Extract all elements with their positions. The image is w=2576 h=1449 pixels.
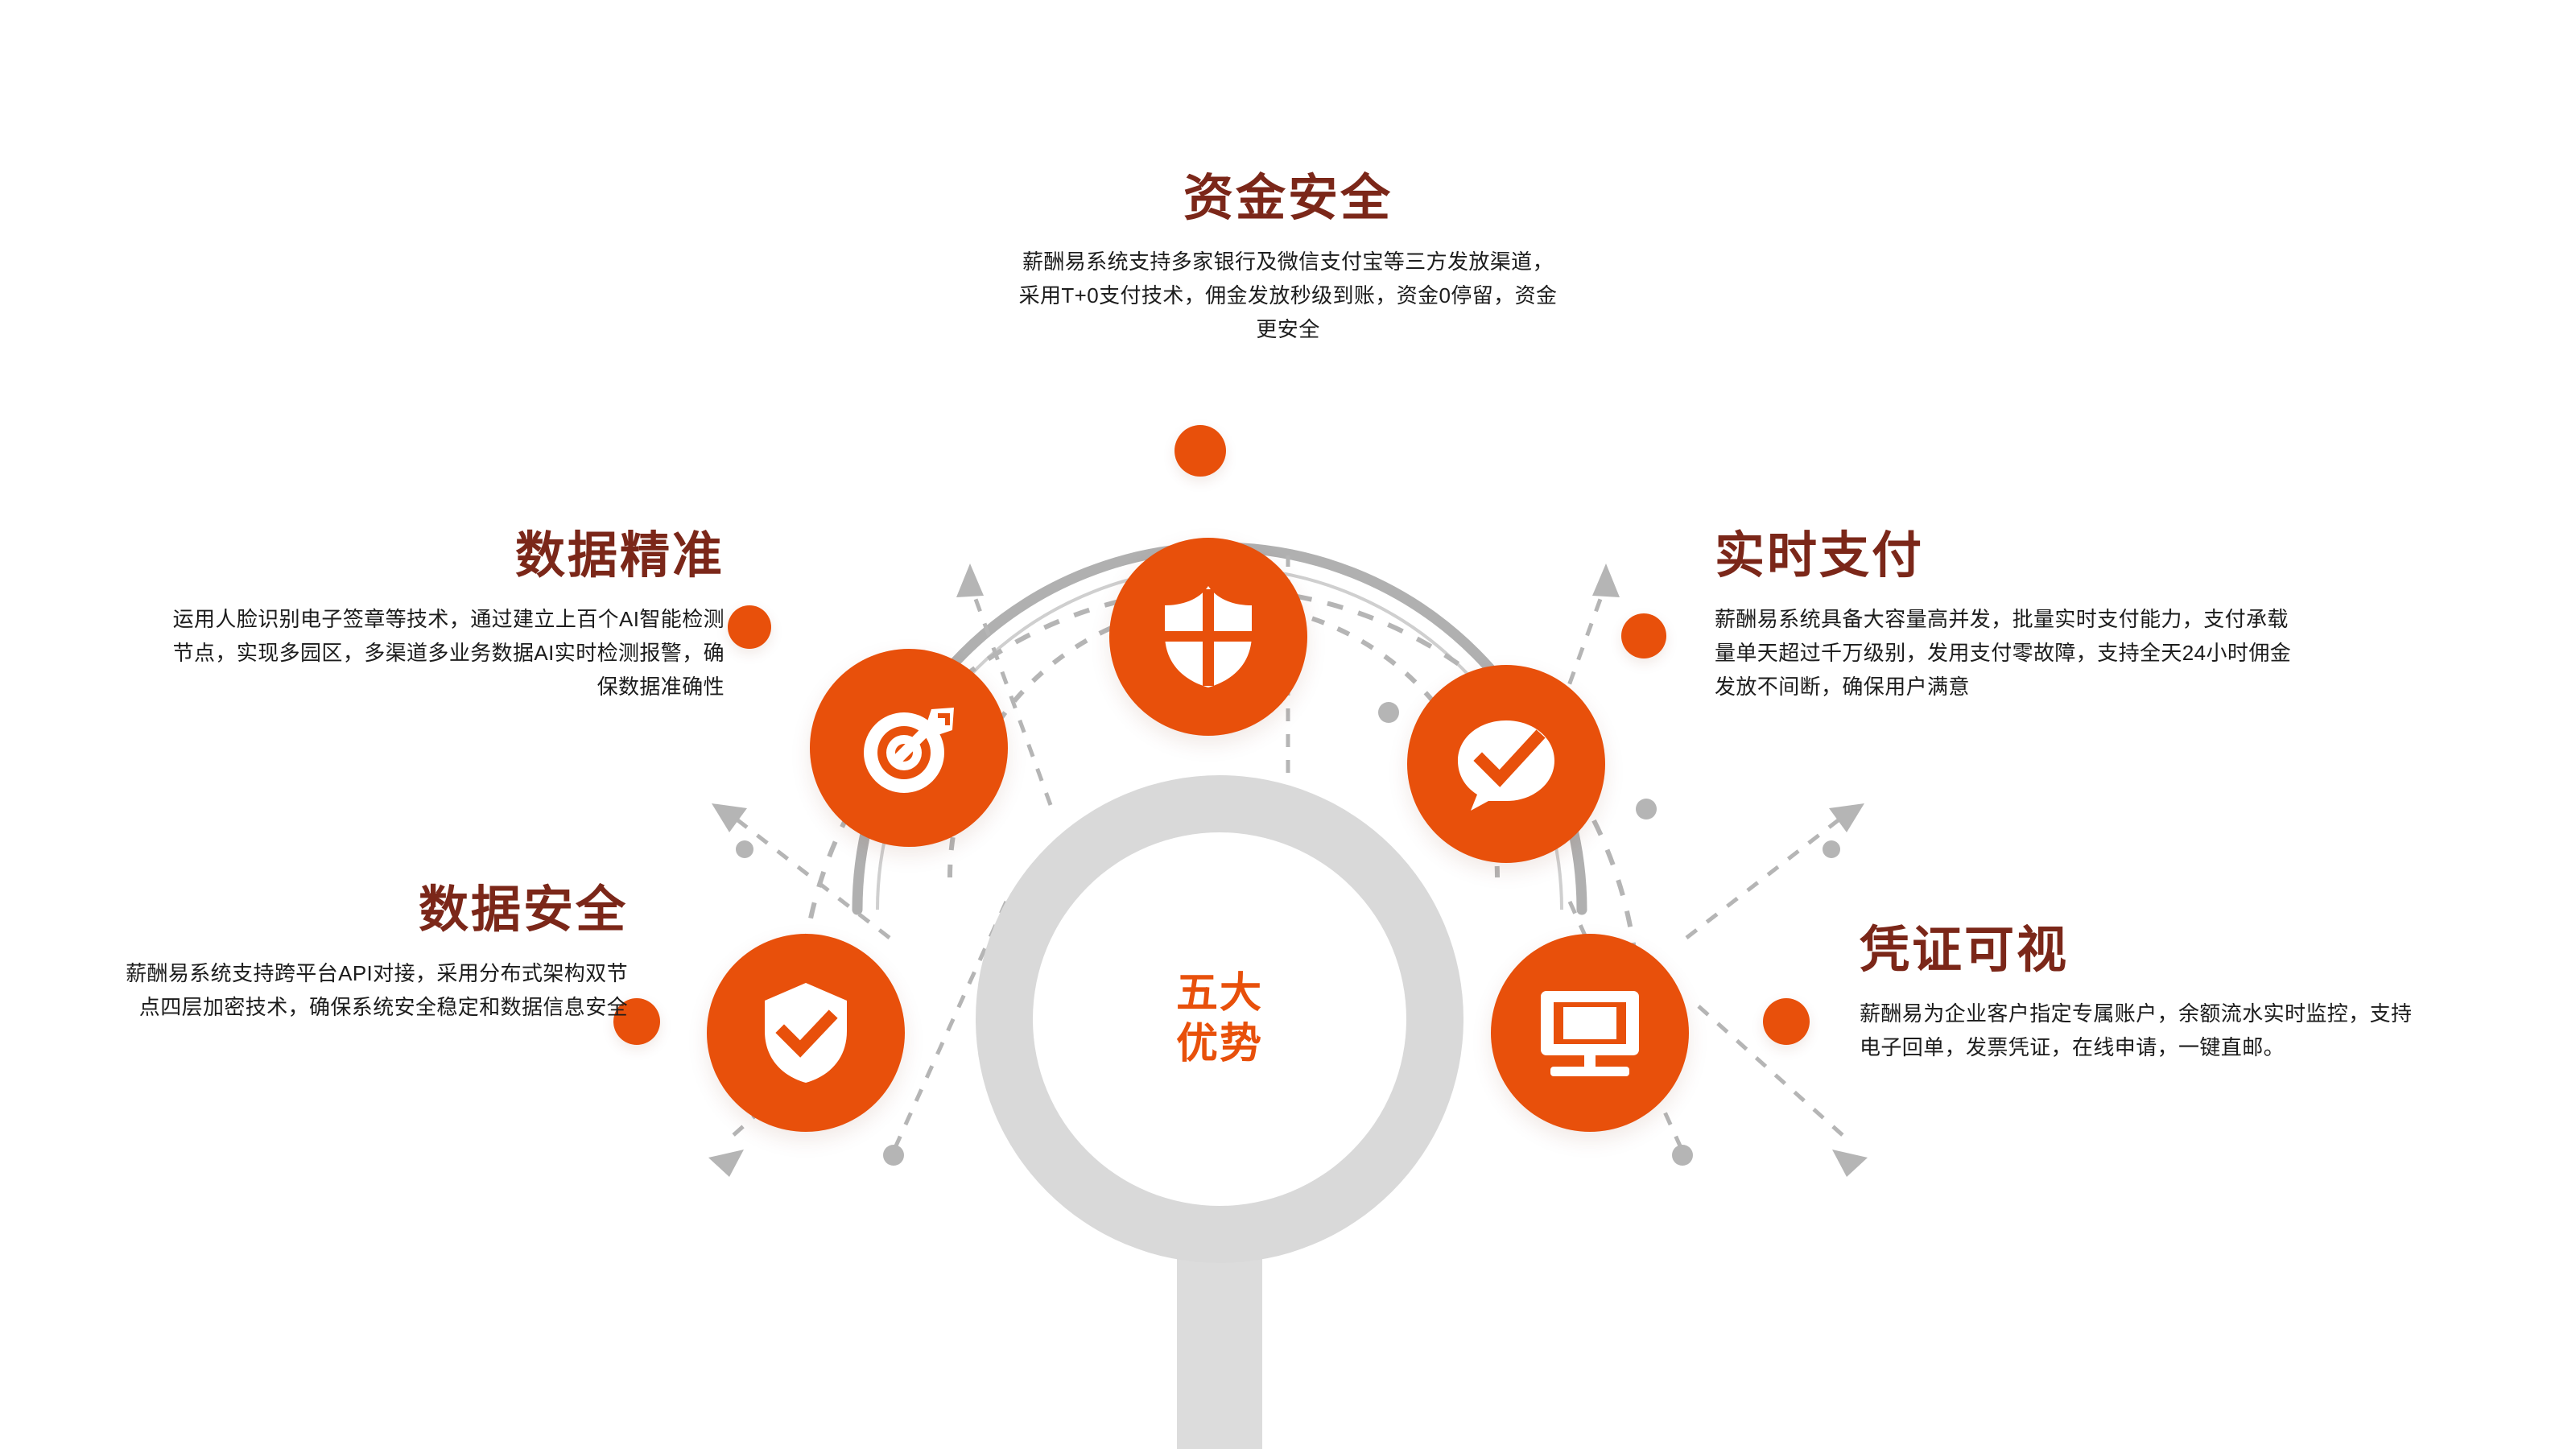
accent-dot-voucher-visible (1763, 998, 1810, 1045)
feature-title-data-accuracy: 数据精准 (113, 531, 724, 581)
bubble-voucher-visible[interactable] (1491, 934, 1689, 1132)
feature-data-accuracy: 数据精准 运用人脸识别电子签章等技术，通过建立上百个AI智能检测节点，实现多园区… (113, 531, 724, 704)
bubble-data-security[interactable] (707, 934, 905, 1132)
feature-title-fund-security: 资金安全 (885, 174, 1690, 224)
feature-body-data-accuracy: 运用人脸识别电子签章等技术，通过建立上百个AI智能检测节点，实现多园区，多渠道多… (161, 602, 724, 704)
accent-dot-fund-security (1174, 425, 1226, 477)
target-dart-icon (857, 696, 960, 799)
shield-cross-icon (1158, 584, 1258, 689)
feature-voucher-visible: 凭证可视 薪酬易为企业客户指定专属账户，余额流水实时监控，支持电子回单，发票凭证… (1860, 926, 2471, 1064)
monitor-icon (1538, 988, 1642, 1078)
bubble-realtime-payment[interactable] (1407, 665, 1605, 863)
accent-dot-data-accuracy (728, 605, 771, 649)
shield-check-icon (760, 981, 852, 1084)
feature-title-realtime-payment: 实时支付 (1715, 531, 2359, 581)
chat-check-icon (1453, 714, 1559, 814)
feature-data-security: 数据安全 薪酬易系统支持跨平台API对接，采用分布式架构双节点四层加密技术，确保… (64, 885, 628, 1024)
center-label-line1: 五大 (1176, 968, 1263, 1019)
feature-fund-security: 资金安全 薪酬易系统支持多家银行及微信支付宝等三方发放渠道，采用T+0支付技术，… (885, 174, 1690, 346)
feature-title-data-security: 数据安全 (64, 885, 628, 935)
accent-dot-realtime-payment (1621, 613, 1666, 658)
center-label-line2: 优势 (1176, 1019, 1263, 1070)
bubble-data-accuracy[interactable] (810, 649, 1008, 847)
bubble-fund-security[interactable] (1109, 538, 1307, 736)
center-label: 五大 优势 (1033, 832, 1406, 1206)
feature-body-fund-security: 薪酬易系统支持多家银行及微信支付宝等三方发放渠道，采用T+0支付技术，佣金发放秒… (1014, 245, 1562, 346)
feature-body-realtime-payment: 薪酬易系统具备大容量高并发，批量实时支付能力，支付承载量单天超过千万级别，发用支… (1715, 602, 2294, 704)
feature-body-voucher-visible: 薪酬易为企业客户指定专属账户，余额流水实时监控，支持电子回单，发票凭证，在线申请… (1860, 997, 2415, 1064)
feature-title-voucher-visible: 凭证可视 (1860, 926, 2471, 976)
infographic-canvas: 五大 优势 (0, 0, 2576, 1449)
feature-realtime-payment: 实时支付 薪酬易系统具备大容量高并发，批量实时支付能力，支付承载量单天超过千万级… (1715, 531, 2359, 704)
feature-body-data-security: 薪酬易系统支持跨平台API对接，采用分布式架构双节点四层加密技术，确保系统安全稳… (113, 956, 628, 1024)
